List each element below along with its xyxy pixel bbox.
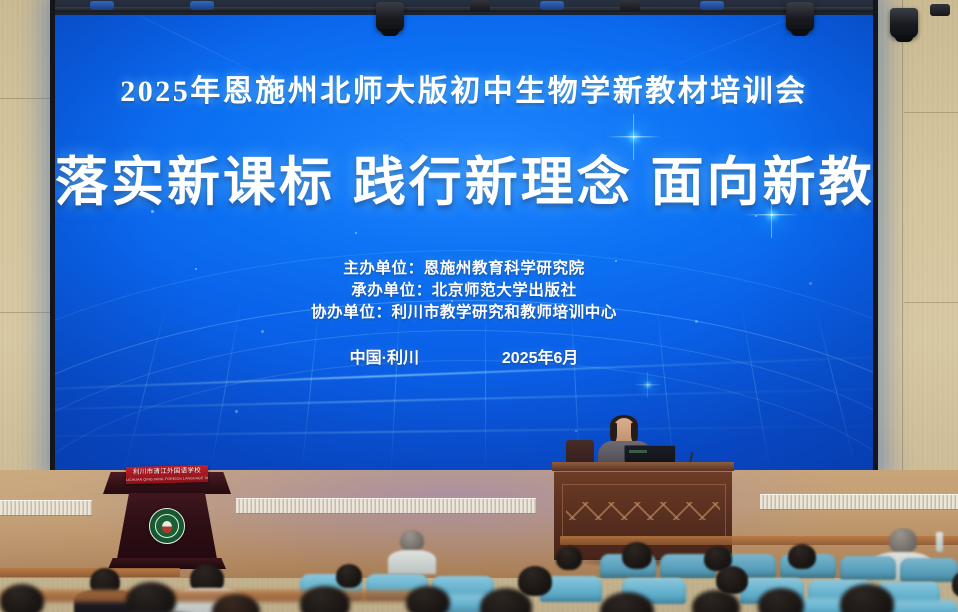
wall-panel-seam: [904, 112, 958, 113]
desk-surface: [552, 462, 734, 471]
audience-head: [788, 544, 816, 569]
stage-light-fixture: [190, 1, 214, 10]
slide-date: 2025年6月: [502, 344, 579, 368]
organizer-line-organizer: 承办单位：北京师范大学出版社: [55, 280, 873, 302]
slide-organizers: 主办单位：恩施州教育科学研究院 承办单位：北京师范大学出版社 协办单位：利川市教…: [55, 258, 873, 324]
organizer-line-coorganizer: 协办单位：利川市教学研究和教师培训中心: [55, 302, 873, 324]
stage-light-fixture: [786, 2, 814, 32]
podium-banner-subtext: LICHUAN QINGJIANG FOREIGN LANGUAGE SCHOO…: [126, 475, 208, 482]
audience-head: [126, 582, 176, 612]
stage-light-fixture: [620, 0, 640, 12]
stage-light-fixture: [540, 1, 564, 10]
lighting-truss-bar: [55, 7, 873, 12]
wall-air-vent: [236, 498, 536, 514]
audience-area: [0, 528, 958, 612]
audience-head: [400, 530, 424, 552]
wall-air-vent: [0, 500, 92, 516]
led-screen: 2025年恩施州北师大版初中生物学新教材培训会 落实新课标 践行新理念 面向新教…: [55, 0, 873, 474]
stage-light-fixture: [890, 8, 918, 38]
speaker-hair-side: [631, 423, 638, 442]
slide-content: 2025年恩施州北师大版初中生物学新教材培训会 落实新课标 践行新理念 面向新教…: [55, 0, 873, 474]
audience-head: [406, 586, 450, 612]
speaker-hair-side: [610, 423, 617, 442]
wall-panel-seam: [0, 98, 52, 99]
stage-light-fixture: [470, 0, 490, 12]
slide-location: 中国·利川: [350, 344, 419, 368]
podium-banner: 利川市清江外国语学校 LICHUAN QINGJIANG FOREIGN LAN…: [126, 465, 208, 484]
audience-head: [0, 584, 44, 612]
audience-head: [622, 542, 652, 569]
stage-light-fixture: [930, 4, 950, 16]
wall-panel-seam: [904, 302, 958, 303]
wall-air-vent: [760, 494, 958, 510]
slide-title: 2025年恩施州北师大版初中生物学新教材培训会: [55, 66, 873, 110]
wall-panel-seam: [902, 0, 903, 470]
auditorium-seat: [840, 556, 896, 580]
seat-row-ledge: [0, 568, 180, 577]
audience-head: [336, 564, 362, 588]
stage-light-fixture: [90, 1, 114, 10]
seat-row-ledge: [0, 590, 430, 602]
audience-head: [556, 546, 582, 570]
water-bottle: [936, 532, 943, 552]
auditorium-seat: [900, 558, 958, 582]
slide-headline: 落实新课标 践行新理念 面向新教材: [55, 140, 873, 216]
stage-light-fixture: [376, 2, 404, 32]
desk-zigzag-motif: [566, 502, 720, 520]
screenshot-root: 2025年恩施州北师大版初中生物学新教材培训会 落实新课标 践行新理念 面向新教…: [0, 0, 958, 612]
stage-light-fixture: [700, 1, 724, 10]
slide-footer: 中国·利川 2025年6月: [55, 344, 873, 368]
wall-panel-seam: [0, 312, 52, 313]
audience-head: [889, 528, 917, 554]
audience-shoulders: [388, 550, 436, 574]
audience-head: [518, 566, 552, 596]
organizer-line-host: 主办单位：恩施州教育科学研究院: [55, 258, 873, 280]
